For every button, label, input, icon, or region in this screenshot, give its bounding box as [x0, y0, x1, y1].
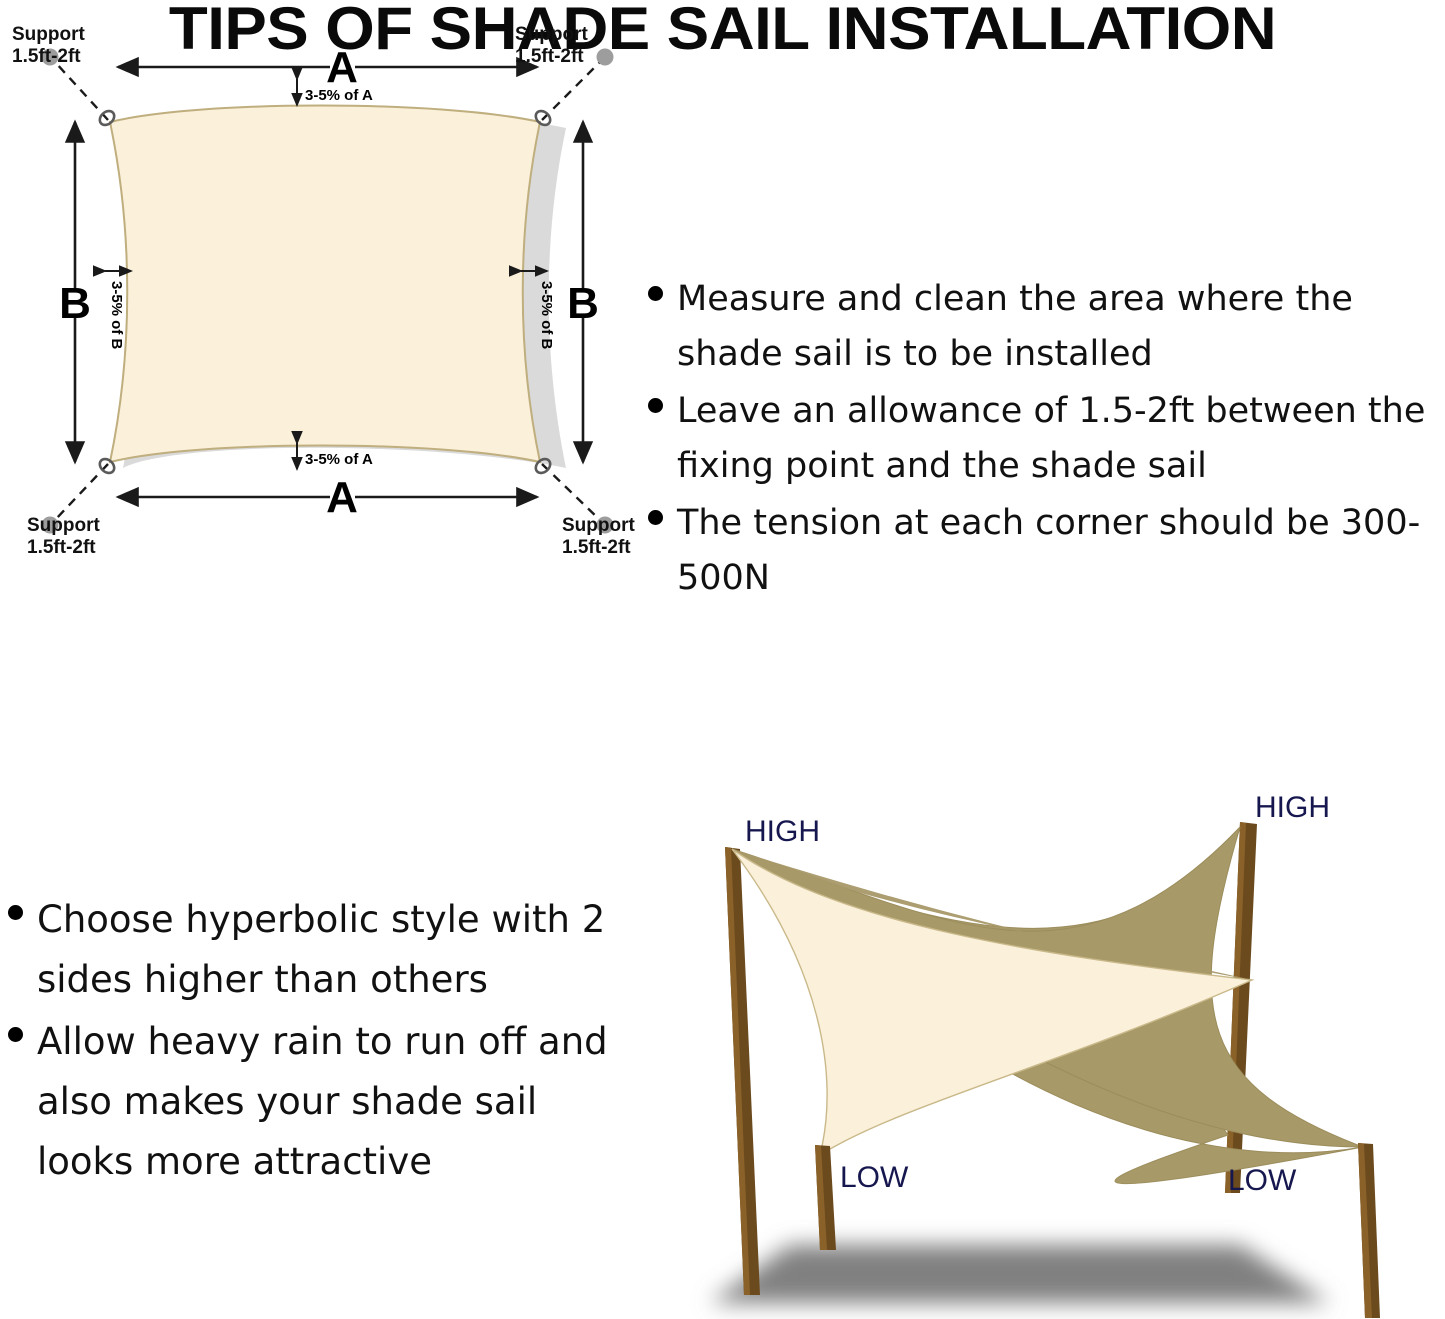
support-label-top-right-line1: Support	[515, 24, 588, 45]
shade-sail-body	[110, 106, 540, 463]
support-line-bottom-left	[55, 464, 108, 520]
dimension-label-b-right: B	[567, 279, 599, 328]
support-label-bottom-left: Support 1.5ft-2ft	[27, 515, 100, 558]
support-label-top-left-line2: 1.5ft-2ft	[12, 46, 81, 67]
list-item: Allow heavy rain to run off and also mak…	[8, 1012, 628, 1192]
list-item: Choose hyperbolic style with 2 sides hig…	[8, 890, 628, 1010]
installation-tips-list: Measure and clean the area where the sha…	[648, 272, 1445, 608]
post-back-left	[725, 847, 760, 1295]
list-item-text: Measure and clean the area where the sha…	[677, 272, 1445, 382]
support-label-top-left-line1: Support	[12, 24, 85, 45]
post-front-right	[1358, 1143, 1380, 1318]
curve-depth-label-top: 3-5% of A	[305, 87, 373, 104]
support-line-top-left	[55, 62, 108, 120]
post-label-low-front-left: LOW	[840, 1161, 909, 1194]
list-item-text: Allow heavy rain to run off and also mak…	[37, 1012, 628, 1192]
support-label-top-right: Support 1.5ft-2ft	[515, 24, 588, 67]
dimension-b-right: B	[567, 122, 599, 462]
support-line-bottom-right	[542, 464, 600, 520]
bullet-dot-icon	[648, 286, 663, 301]
support-label-bottom-right-line1: Support	[562, 515, 635, 536]
curve-depth-label-left: 3-5% of B	[108, 281, 125, 350]
support-label-bottom-right: Support 1.5ft-2ft	[562, 515, 635, 558]
support-dot-top-right	[597, 49, 614, 66]
list-item-text: Choose hyperbolic style with 2 sides hig…	[37, 890, 628, 1010]
dimension-label-a-bottom: A	[326, 473, 358, 522]
dimension-b-left: B	[59, 122, 91, 462]
hyperbolic-shade-sail-illustration: HIGH HIGH LOW LOW	[640, 775, 1445, 1319]
support-label-bottom-left-line1: Support	[27, 515, 100, 536]
support-label-bottom-right-line2: 1.5ft-2ft	[562, 537, 631, 558]
bullet-dot-icon	[648, 510, 663, 525]
dimension-label-a-top: A	[326, 43, 358, 92]
curve-depth-label-bottom: 3-5% of A	[305, 451, 373, 468]
bullet-dot-icon	[8, 905, 23, 920]
post-label-low-front-right: LOW	[1228, 1164, 1297, 1197]
list-item-text: The tension at each corner should be 300…	[677, 496, 1445, 606]
dimension-a-bottom: A	[118, 473, 537, 522]
support-label-top-right-line2: 1.5ft-2ft	[515, 46, 584, 67]
rectangle-shade-sail-dimension-diagram: A 3-5% of A A 3-5% of A B 3-5% of B	[0, 0, 660, 580]
ground-shadow	[710, 1245, 1330, 1303]
list-item: The tension at each corner should be 300…	[648, 496, 1445, 606]
support-line-top-right	[542, 62, 600, 120]
dimension-a-top: A	[118, 43, 537, 92]
support-label-bottom-left-line2: 1.5ft-2ft	[27, 537, 96, 558]
post-label-high-back-left: HIGH	[745, 815, 820, 848]
post-back-right	[1225, 822, 1257, 1193]
bullet-dot-icon	[8, 1027, 23, 1042]
list-item: Leave an allowance of 1.5-2ft between th…	[648, 384, 1445, 494]
bullet-dot-icon	[648, 398, 663, 413]
dimension-label-b-left: B	[59, 279, 91, 328]
list-item: Measure and clean the area where the sha…	[648, 272, 1445, 382]
support-label-top-left: Support 1.5ft-2ft	[12, 24, 85, 67]
hyperbolic-style-tips-list: Choose hyperbolic style with 2 sides hig…	[8, 890, 628, 1194]
post-front-left	[815, 1145, 836, 1250]
list-item-text: Leave an allowance of 1.5-2ft between th…	[677, 384, 1445, 494]
curve-depth-label-right: 3-5% of B	[538, 281, 555, 350]
post-label-high-back-right: HIGH	[1255, 791, 1330, 824]
